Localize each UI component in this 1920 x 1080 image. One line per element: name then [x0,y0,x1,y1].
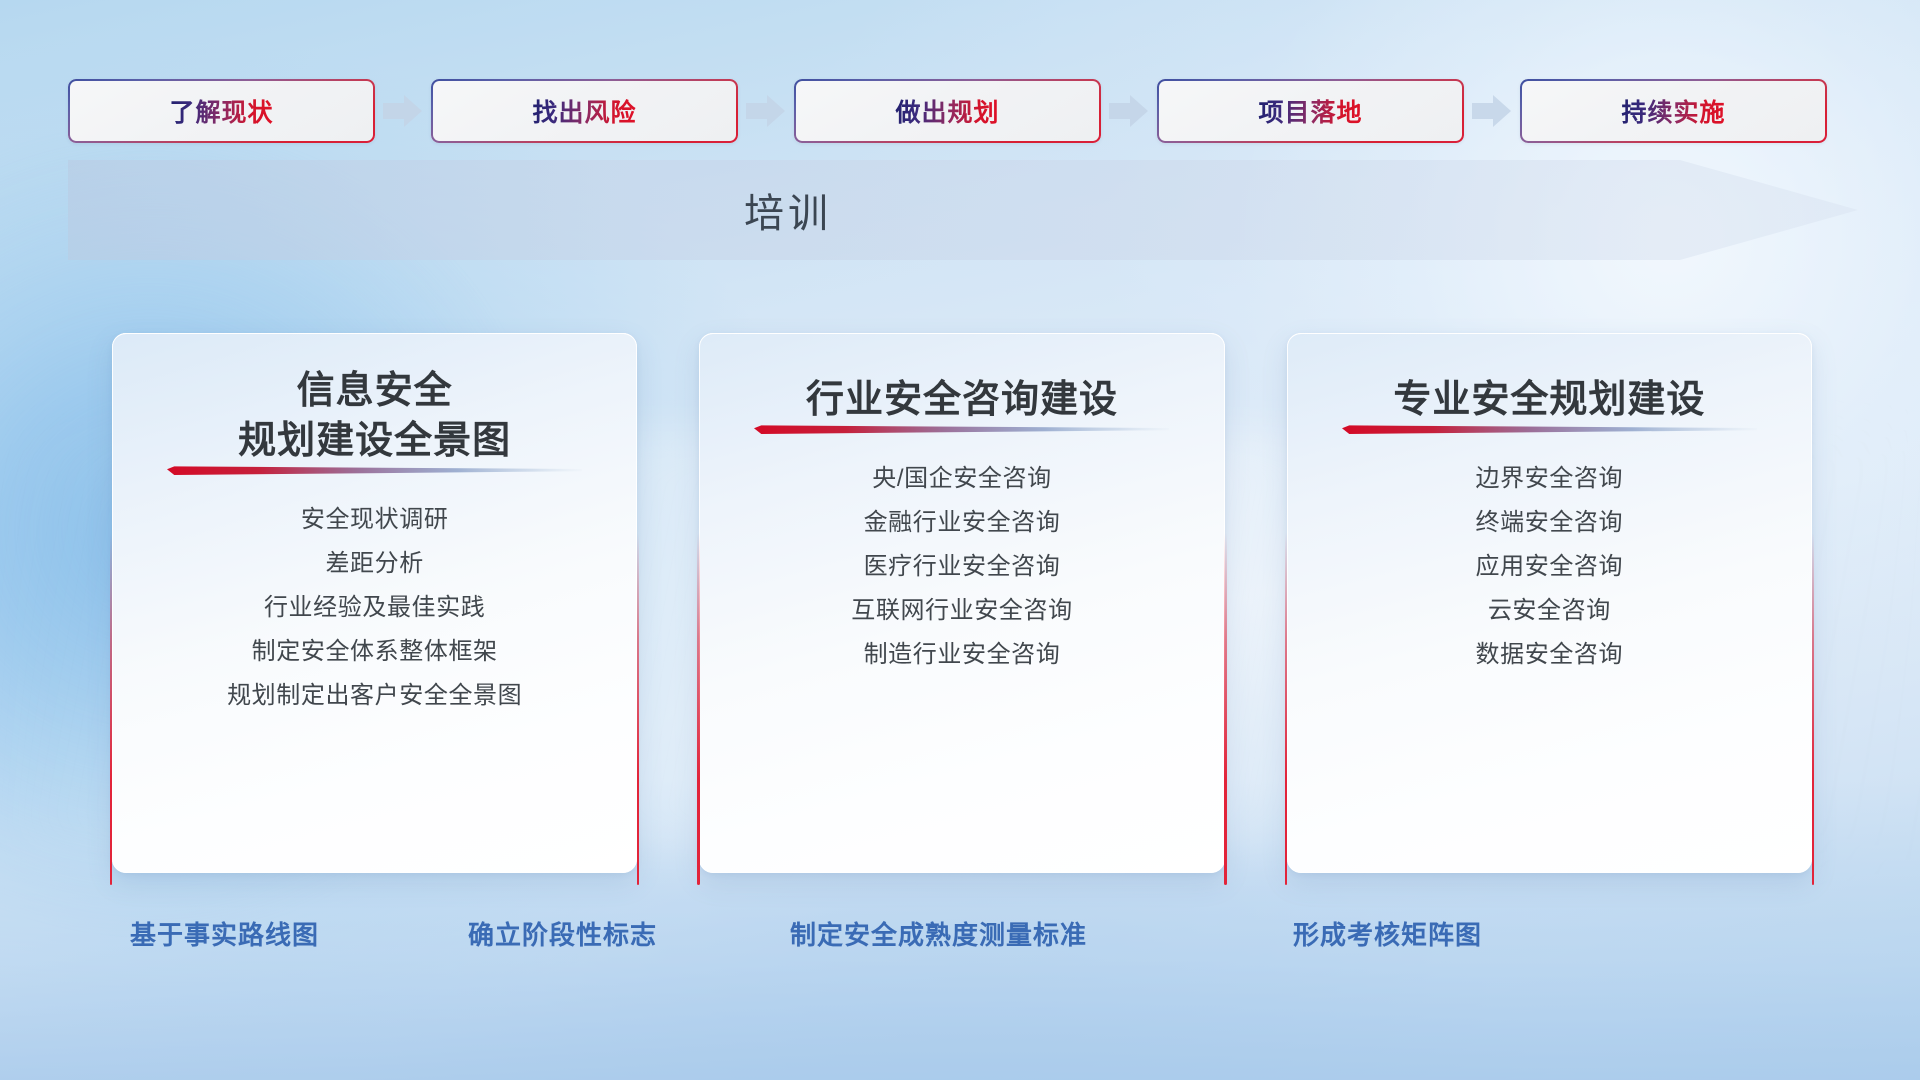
card-list-item[interactable]: 数据安全咨询 [1305,633,1794,677]
footer-caption-1: 基于事实路线图 [130,915,319,952]
stage-flow-row: 了解现状 找出风险 做出规划 项目落地 持续实施 [68,78,1858,144]
capability-card-1[interactable]: 信息安全 规划建设全景图 安全现状调研差距分析行业经验及最佳实践制定安全体系整体… [112,333,637,873]
card-divider [1342,425,1757,439]
card-item-list: 央/国企安全咨询金融行业安全咨询医疗行业安全咨询互联网行业安全咨询制造行业安全咨… [699,439,1224,677]
capability-cards: 信息安全 规划建设全景图 安全现状调研差距分析行业经验及最佳实践制定安全体系整体… [112,333,1812,873]
training-banner: 培训 [68,160,1858,260]
training-banner-label: 培训 [68,160,1508,260]
stage-chip-label: 做出规划 [895,93,999,129]
chevron-right-block-icon [1109,94,1149,128]
card-list-item[interactable]: 安全现状调研 [130,498,619,542]
tapered-accent-divider-icon [754,425,1169,439]
card-list-item[interactable]: 制定安全体系整体框架 [130,630,619,674]
card-list-item[interactable]: 规划制定出客户安全全景图 [130,674,619,718]
tapered-accent-divider-icon [1342,425,1757,439]
card-item-list: 安全现状调研差距分析行业经验及最佳实践制定安全体系整体框架规划制定出客户安全全景… [112,480,637,718]
card-list-item[interactable]: 应用安全咨询 [1305,545,1794,589]
stage-chip-label: 持续实施 [1621,93,1725,129]
chevron-right-block-icon [383,94,423,128]
stage-chip-label: 找出风险 [532,93,636,129]
card-list-item[interactable]: 互联网行业安全咨询 [717,589,1206,633]
card-list-item[interactable]: 金融行业安全咨询 [717,501,1206,545]
stage-chip-4[interactable]: 项目落地 [1157,79,1464,143]
card-list-item[interactable]: 制造行业安全咨询 [717,633,1206,677]
chevron-right-block-icon [1472,94,1512,128]
stage-arrow-3 [1101,91,1157,131]
card-title: 行业安全咨询建设 [699,333,1224,425]
stage-arrow-1 [375,91,431,131]
footer-caption-3: 制定安全成熟度测量标准 [790,915,1087,952]
tapered-accent-divider-icon [167,466,582,480]
card-list-item[interactable]: 医疗行业安全咨询 [717,545,1206,589]
stage-chip-3[interactable]: 做出规划 [794,79,1101,143]
card-item-list: 边界安全咨询终端安全咨询应用安全咨询云安全咨询数据安全咨询 [1287,439,1812,677]
footer-caption-2: 确立阶段性标志 [468,915,657,952]
card-list-item[interactable]: 终端安全咨询 [1305,501,1794,545]
card-list-item[interactable]: 行业经验及最佳实践 [130,586,619,630]
card-divider [167,466,582,480]
stage-arrow-2 [738,91,794,131]
card-list-item[interactable]: 央/国企安全咨询 [717,457,1206,501]
card-divider [754,425,1169,439]
stage-arrow-4 [1464,91,1520,131]
stage-chip-2[interactable]: 找出风险 [431,79,738,143]
card-list-item[interactable]: 差距分析 [130,542,619,586]
capability-card-3[interactable]: 专业安全规划建设 边界安全咨询终端安全咨询应用安全咨询云安全咨询数据安全咨询 [1287,333,1812,873]
card-title: 专业安全规划建设 [1287,333,1812,425]
footer-captions: 基于事实路线图确立阶段性标志制定安全成熟度测量标准形成考核矩阵图 [0,915,1920,961]
capability-card-2[interactable]: 行业安全咨询建设 央/国企安全咨询金融行业安全咨询医疗行业安全咨询互联网行业安全… [699,333,1224,873]
chevron-right-block-icon [746,94,786,128]
card-list-item[interactable]: 边界安全咨询 [1305,457,1794,501]
footer-caption-4: 形成考核矩阵图 [1293,915,1482,952]
card-title: 信息安全 规划建设全景图 [112,333,637,466]
stage-chip-label: 项目落地 [1258,93,1362,129]
stage-chip-5[interactable]: 持续实施 [1520,79,1827,143]
card-list-item[interactable]: 云安全咨询 [1305,589,1794,633]
stage-chip-label: 了解现状 [169,93,273,129]
stage-chip-1[interactable]: 了解现状 [68,79,375,143]
